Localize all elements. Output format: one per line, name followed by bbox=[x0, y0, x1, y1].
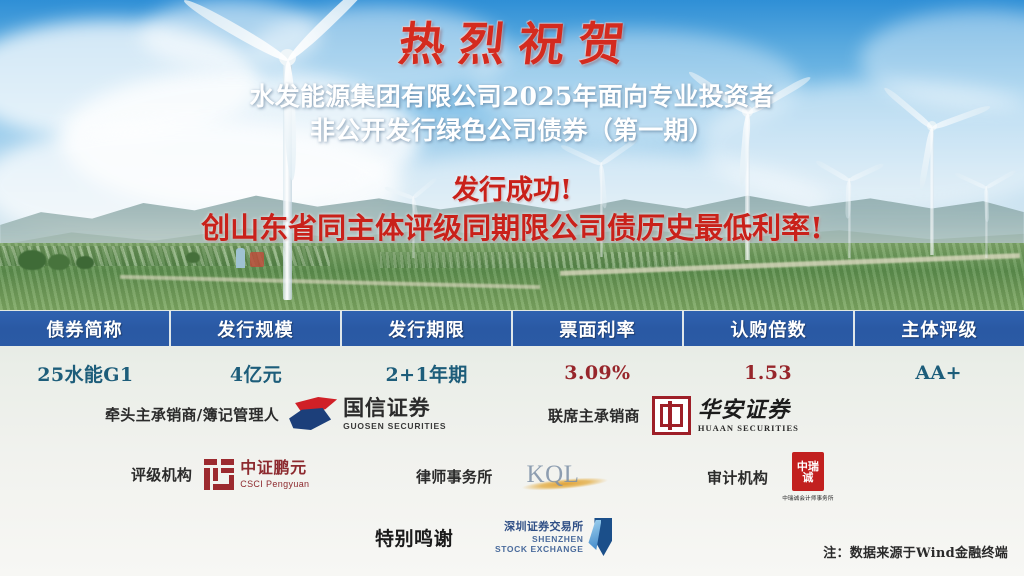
farm-building bbox=[250, 252, 264, 267]
table-row: 25水能G1 4亿元 2+1年期 3.09% 1.53 AA+ bbox=[0, 356, 1024, 390]
table-cell-subscription-multiple: 1.53 bbox=[683, 356, 854, 390]
guosen-securities-logo: 国信证券 GUOSEN SECURITIES bbox=[289, 396, 446, 432]
joint-underwriter-label: 联席主承销商 bbox=[548, 405, 640, 426]
law-firm-group: 律师事务所 KQL bbox=[416, 459, 625, 493]
tree bbox=[18, 250, 46, 270]
csci-name-en: CSCI Pengyuan bbox=[240, 480, 309, 489]
kql-wordmark: KQL bbox=[527, 461, 580, 489]
csci-mark-icon bbox=[204, 459, 234, 490]
field-patch bbox=[380, 252, 680, 268]
table-header-row: 债券简称 发行规模 发行期限 票面利率 认购倍数 主体评级 bbox=[0, 311, 1024, 346]
guosen-blue-shape bbox=[289, 408, 331, 430]
audit-seal-text: 中瑞诚 bbox=[792, 461, 824, 483]
subtitle-line-2: 非公开发行绿色公司债券（第一期） bbox=[0, 114, 1024, 148]
table-cell-issuer-rating: AA+ bbox=[853, 356, 1024, 390]
table-cell-coupon-rate: 3.09% bbox=[512, 356, 683, 390]
lead-underwriter-label: 牵头主承销商/簿记管理人 bbox=[105, 404, 279, 425]
huaan-name-en: HUAAN SECURITIES bbox=[698, 424, 799, 433]
huaan-wordmark: 华安证券 HUAAN SECURITIES bbox=[698, 399, 799, 433]
subtitle: 水发能源集团有限公司2025年面向专业投资者 非公开发行绿色公司债券（第一期） bbox=[0, 80, 1024, 148]
audit-firm-name: 中瑞诚会计师事务所 bbox=[782, 494, 833, 502]
subtitle-line-1: 水发能源集团有限公司2025年面向专业投资者 bbox=[0, 80, 1024, 114]
joint-underwriter-group: 联席主承销商 华安证券 HUAAN SECURITIES bbox=[548, 396, 799, 435]
congratulation-poster: 热烈祝贺 水发能源集团有限公司2025年面向专业投资者 非公开发行绿色公司债券（… bbox=[0, 0, 1024, 576]
table-cell-bond-name: 25水能G1 bbox=[0, 356, 171, 390]
table-header-cell: 发行规模 bbox=[171, 311, 342, 346]
szse-name-en-line2: STOCK EXCHANGE bbox=[495, 545, 583, 554]
szse-name-en-line1: SHENZHEN bbox=[532, 535, 584, 544]
tree bbox=[76, 256, 94, 269]
szse-name-cn: 深圳证券交易所 bbox=[504, 521, 583, 532]
claim-line-1: 发行成功! bbox=[0, 168, 1024, 207]
huaan-securities-logo: 华安证券 HUAAN SECURITIES bbox=[652, 396, 799, 435]
guosen-name-cn: 国信证券 bbox=[343, 398, 446, 419]
guosen-name-en: GUOSEN SECURITIES bbox=[343, 422, 446, 431]
guosen-wordmark: 国信证券 GUOSEN SECURITIES bbox=[343, 398, 446, 431]
table-cell-issue-size: 4亿元 bbox=[171, 356, 342, 390]
table-cell-tenor: 2+1年期 bbox=[341, 356, 512, 390]
shenzhen-stock-exchange-logo: 深圳证券交易所 SHENZHEN STOCK EXCHANGE bbox=[495, 518, 612, 556]
shenzhen-stock-exchange-group: 深圳证券交易所 SHENZHEN STOCK EXCHANGE bbox=[495, 518, 612, 556]
szse-shield-icon bbox=[586, 518, 612, 556]
silo bbox=[236, 248, 245, 268]
zhongruicheng-cpa-logo: 中瑞诚 中瑞诚会计师事务所 bbox=[782, 452, 833, 502]
huaan-seal-icon bbox=[652, 396, 691, 435]
rating-agency-label: 评级机构 bbox=[131, 464, 192, 485]
table-header-cell: 票面利率 bbox=[513, 311, 684, 346]
csci-wordmark: 中证鹏元 CSCI Pengyuan bbox=[240, 460, 309, 489]
lead-underwriter-group: 牵头主承销商/簿记管理人 国信证券 GUOSEN SECURITIES bbox=[105, 396, 446, 432]
bond-summary-table: 债券简称 发行规模 发行期限 票面利率 认购倍数 主体评级 25水能G1 4亿元… bbox=[0, 311, 1024, 390]
rating-agency-group: 评级机构 中证鹏元 CSCI Pengyuan bbox=[131, 459, 309, 490]
table-header-cell: 主体评级 bbox=[855, 311, 1024, 346]
szse-wordmark: 深圳证券交易所 SHENZHEN STOCK EXCHANGE bbox=[495, 521, 583, 553]
headline: 热烈祝贺 bbox=[0, 8, 1024, 74]
table-header-cell: 债券简称 bbox=[0, 311, 171, 346]
csci-pengyuan-logo: 中证鹏元 CSCI Pengyuan bbox=[204, 459, 309, 490]
huaan-name-cn: 华安证券 bbox=[698, 399, 799, 421]
audit-firm-group: 审计机构 中瑞诚 中瑞诚会计师事务所 bbox=[707, 452, 834, 502]
audit-seal-icon: 中瑞诚 bbox=[792, 452, 824, 491]
tree bbox=[48, 254, 70, 270]
table-header-cell: 发行期限 bbox=[342, 311, 513, 346]
guosen-mark-icon bbox=[289, 396, 337, 432]
table-header-cell: 认购倍数 bbox=[684, 311, 855, 346]
csci-name-cn: 中证鹏元 bbox=[240, 460, 309, 476]
claim-line-2: 创山东省同主体评级同期限公司债历史最低利率! bbox=[0, 205, 1024, 247]
special-thanks-label: 特别鸣谢 bbox=[375, 524, 453, 551]
tree bbox=[186, 252, 200, 263]
audit-firm-label: 审计机构 bbox=[707, 467, 768, 488]
law-firm-label: 律师事务所 bbox=[416, 466, 493, 487]
kql-law-firm-logo: KQL bbox=[505, 459, 625, 493]
data-source-note: 注：数据来源于Wind金融终端 bbox=[823, 542, 1008, 561]
